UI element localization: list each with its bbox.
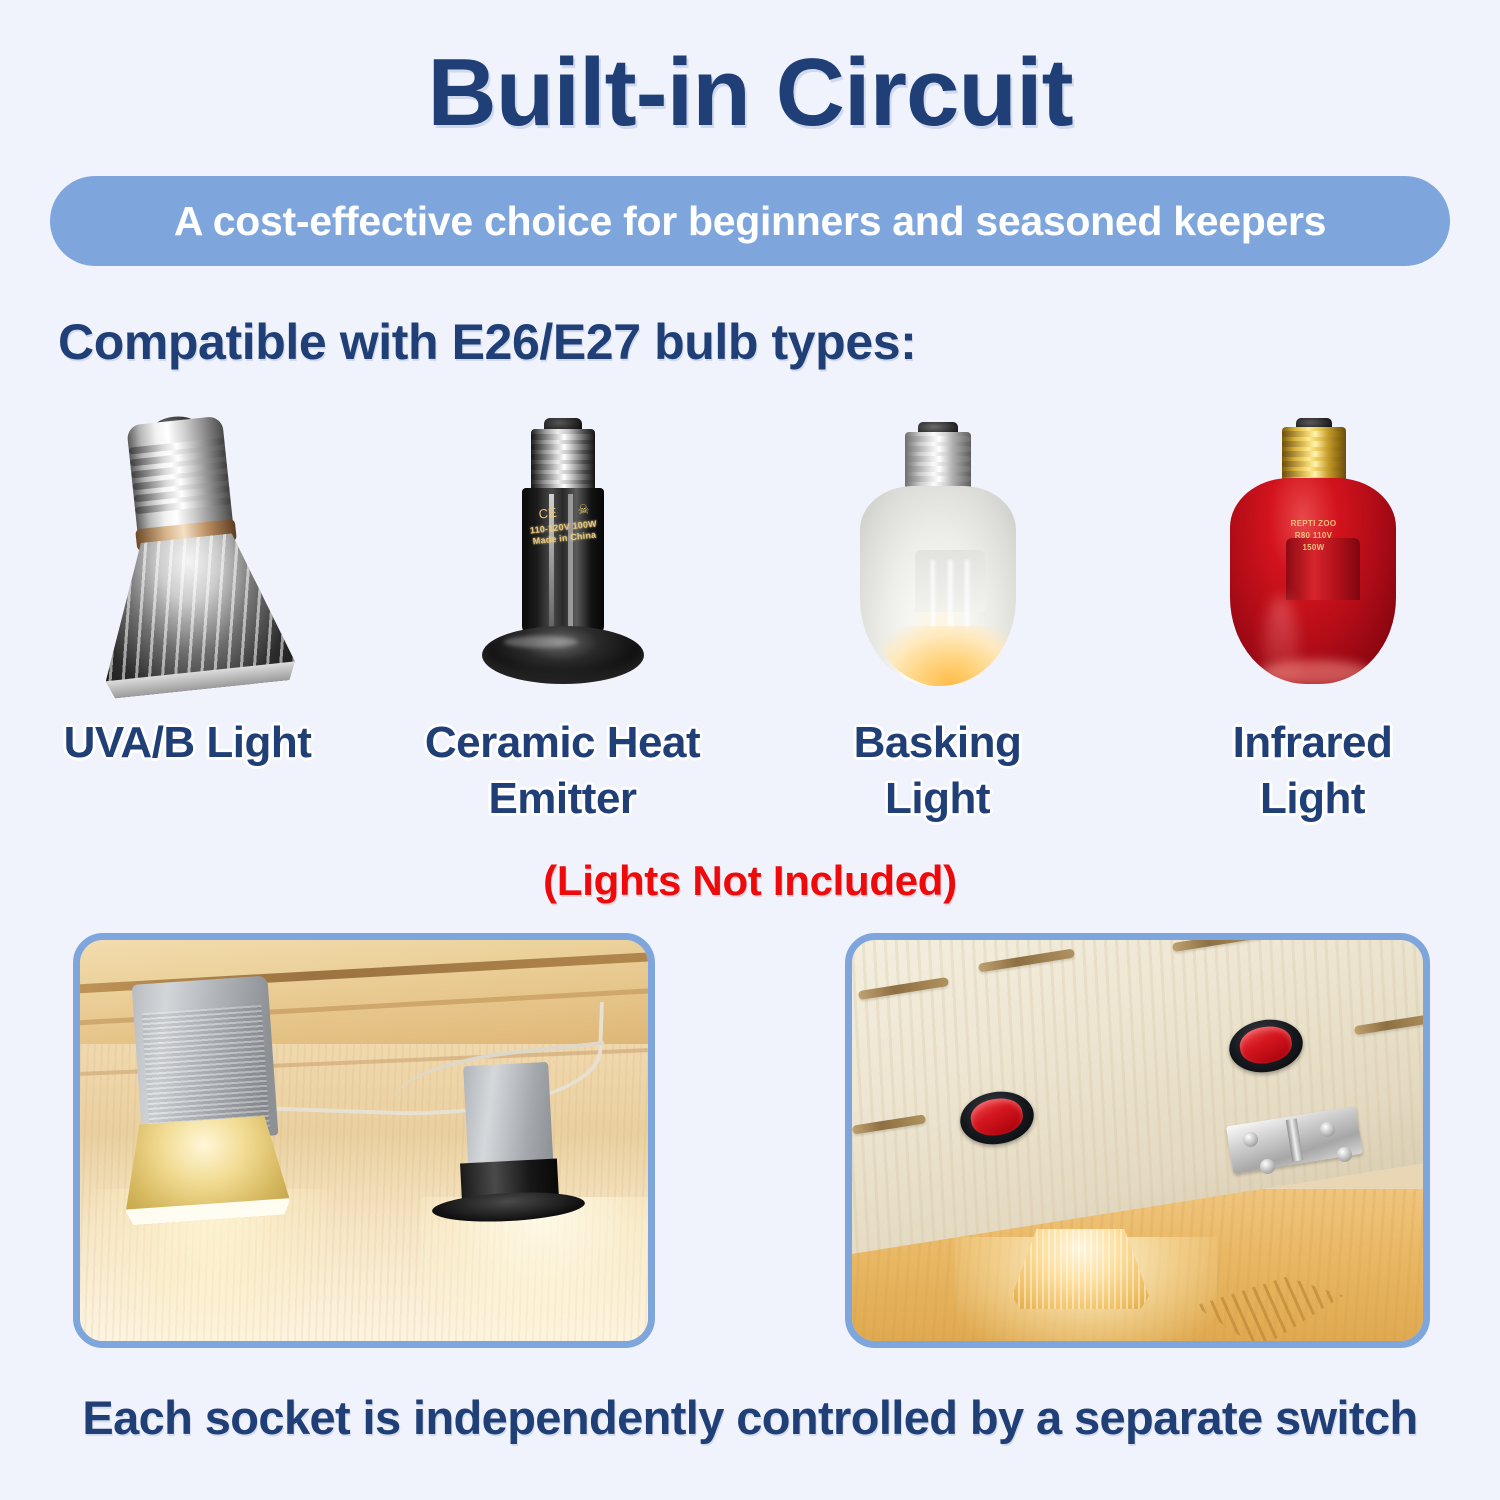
infographic-page: Built-in Circuit A cost-effective choice… bbox=[0, 0, 1500, 1500]
bulb-caption-infrared: Infrared Light bbox=[1125, 715, 1500, 845]
bulb-reflector bbox=[91, 528, 296, 699]
bulb-filament bbox=[922, 560, 978, 632]
bulb-label-line1: UVA/B Light bbox=[0, 715, 375, 771]
compatibility-heading: Compatible with E26/E27 bulb types: bbox=[58, 313, 916, 371]
bulb-label-line2: Emitter bbox=[375, 771, 750, 827]
bulb-threads bbox=[128, 438, 231, 522]
infrared-brand-line: REPTI ZOO bbox=[1274, 518, 1354, 530]
page-title: Built-in Circuit bbox=[0, 38, 1500, 148]
bulb-label-line1: Infrared bbox=[1125, 715, 1500, 771]
infrared-bulb-icon: REPTI ZOO R80 110V 150W bbox=[1220, 418, 1406, 692]
bulb-label-line1: Ceramic Heat bbox=[375, 715, 750, 771]
bulb-cell-uvab bbox=[0, 408, 375, 708]
bulb-highlight bbox=[1260, 660, 1372, 684]
bulb-red-glass bbox=[1230, 478, 1396, 684]
bulb-label-line2: Light bbox=[750, 771, 1125, 827]
infrared-print-text: REPTI ZOO R80 110V 150W bbox=[1274, 518, 1354, 554]
installed-reflector-bulb bbox=[119, 1115, 290, 1226]
bulb-threads bbox=[531, 434, 595, 488]
subtitle-pill: A cost-effective choice for beginners an… bbox=[50, 176, 1450, 266]
basking-bulb-icon bbox=[848, 422, 1028, 692]
infrared-model-line: R80 110V bbox=[1274, 530, 1354, 542]
bulb-label-line2: Light bbox=[1125, 771, 1500, 827]
lights-not-included-notice: (Lights Not Included) bbox=[0, 857, 1500, 905]
bulb-caption-basking: Basking Light bbox=[750, 715, 1125, 845]
bulb-caption-uvab: UVA/B Light bbox=[0, 715, 375, 845]
bulb-cell-ceramic: CE ☠ 110-120V 100W Made in China bbox=[375, 408, 750, 708]
bulb-row: CE ☠ 110-120V 100W Made in China bbox=[0, 408, 1500, 708]
ceramic-heat-emitter-icon: CE ☠ 110-120V 100W Made in China bbox=[470, 418, 656, 692]
subtitle-text: A cost-effective choice for beginners an… bbox=[174, 198, 1326, 245]
bulb-cell-basking bbox=[750, 408, 1125, 708]
bulb-cell-infrared: REPTI ZOO R80 110V 150W bbox=[1125, 408, 1500, 708]
lamp-sockets-under-panel-photo bbox=[73, 933, 655, 1348]
bulb-threads bbox=[1282, 431, 1346, 481]
bulb-label-line1: Basking bbox=[750, 715, 1125, 771]
weee-mark: ☠ bbox=[576, 501, 589, 518]
hinge-screw bbox=[1260, 1159, 1275, 1174]
hinge-screw bbox=[1337, 1147, 1352, 1162]
ceramic-base-plate bbox=[482, 626, 644, 684]
uvab-reflector-bulb-icon bbox=[74, 410, 301, 697]
switches-on-enclosure-top-photo bbox=[845, 933, 1430, 1348]
bulb-threads bbox=[905, 436, 971, 488]
bulb-caption-row: UVA/B Light Ceramic Heat Emitter Basking… bbox=[0, 715, 1500, 845]
installed-basking-bulb bbox=[1012, 1229, 1149, 1309]
bulb-caption-ceramic: Ceramic Heat Emitter bbox=[375, 715, 750, 845]
bulb-glass bbox=[860, 486, 1016, 686]
ce-mark: CE bbox=[537, 505, 557, 523]
footer-caption: Each socket is independently controlled … bbox=[0, 1390, 1500, 1445]
infrared-wattage-line: 150W bbox=[1274, 542, 1354, 554]
